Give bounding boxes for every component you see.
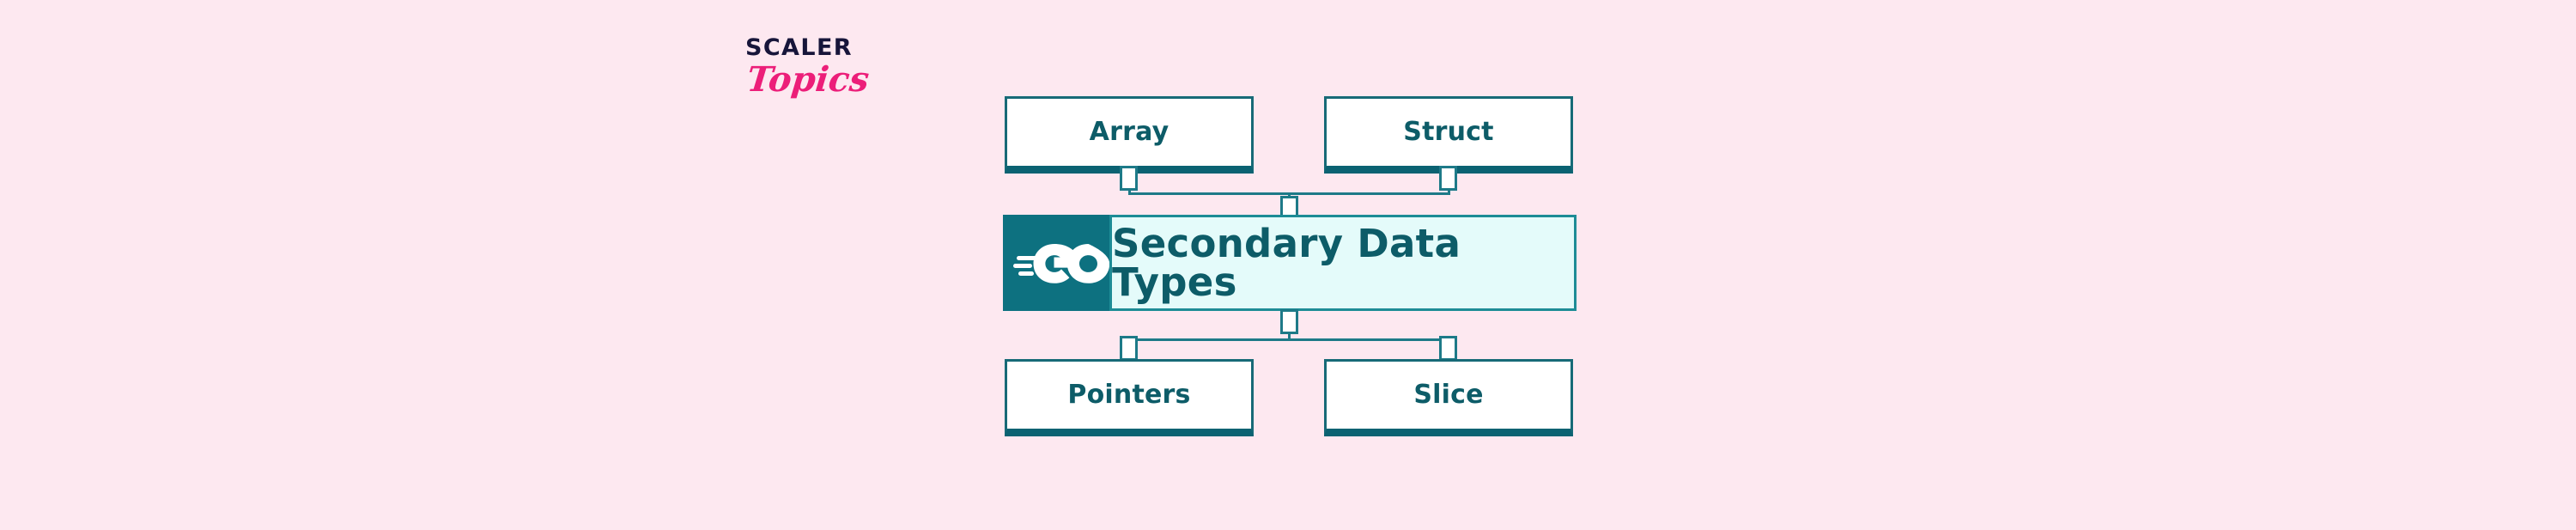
connector-port-struct (1439, 166, 1457, 191)
connector-bottom-bus (1128, 338, 1450, 341)
go-logo-icon (1003, 215, 1109, 311)
connector-port-central-bottom (1280, 309, 1298, 334)
connector-port-pointers (1120, 336, 1138, 361)
diagram-node-secondary-data-types: Secondary Data Types (1003, 215, 1577, 311)
central-node-title: Secondary Data Types (1112, 224, 1574, 302)
diagram-node-slice-label: Slice (1413, 382, 1483, 408)
diagram-node-array: Array (1005, 96, 1254, 174)
diagram-node-pointers-label: Pointers (1067, 382, 1190, 408)
diagram-node-array-label: Array (1090, 119, 1170, 145)
secondary-data-types-diagram: Array Struct (0, 0, 2576, 530)
diagram-node-slice: Slice (1324, 359, 1573, 436)
diagram-node-struct: Struct (1324, 96, 1573, 174)
connector-port-slice (1439, 336, 1457, 361)
diagram-node-struct-label: Struct (1403, 119, 1493, 145)
central-node-body: Secondary Data Types (1109, 215, 1577, 311)
connector-port-array (1120, 166, 1138, 191)
diagram-node-pointers: Pointers (1005, 359, 1254, 436)
